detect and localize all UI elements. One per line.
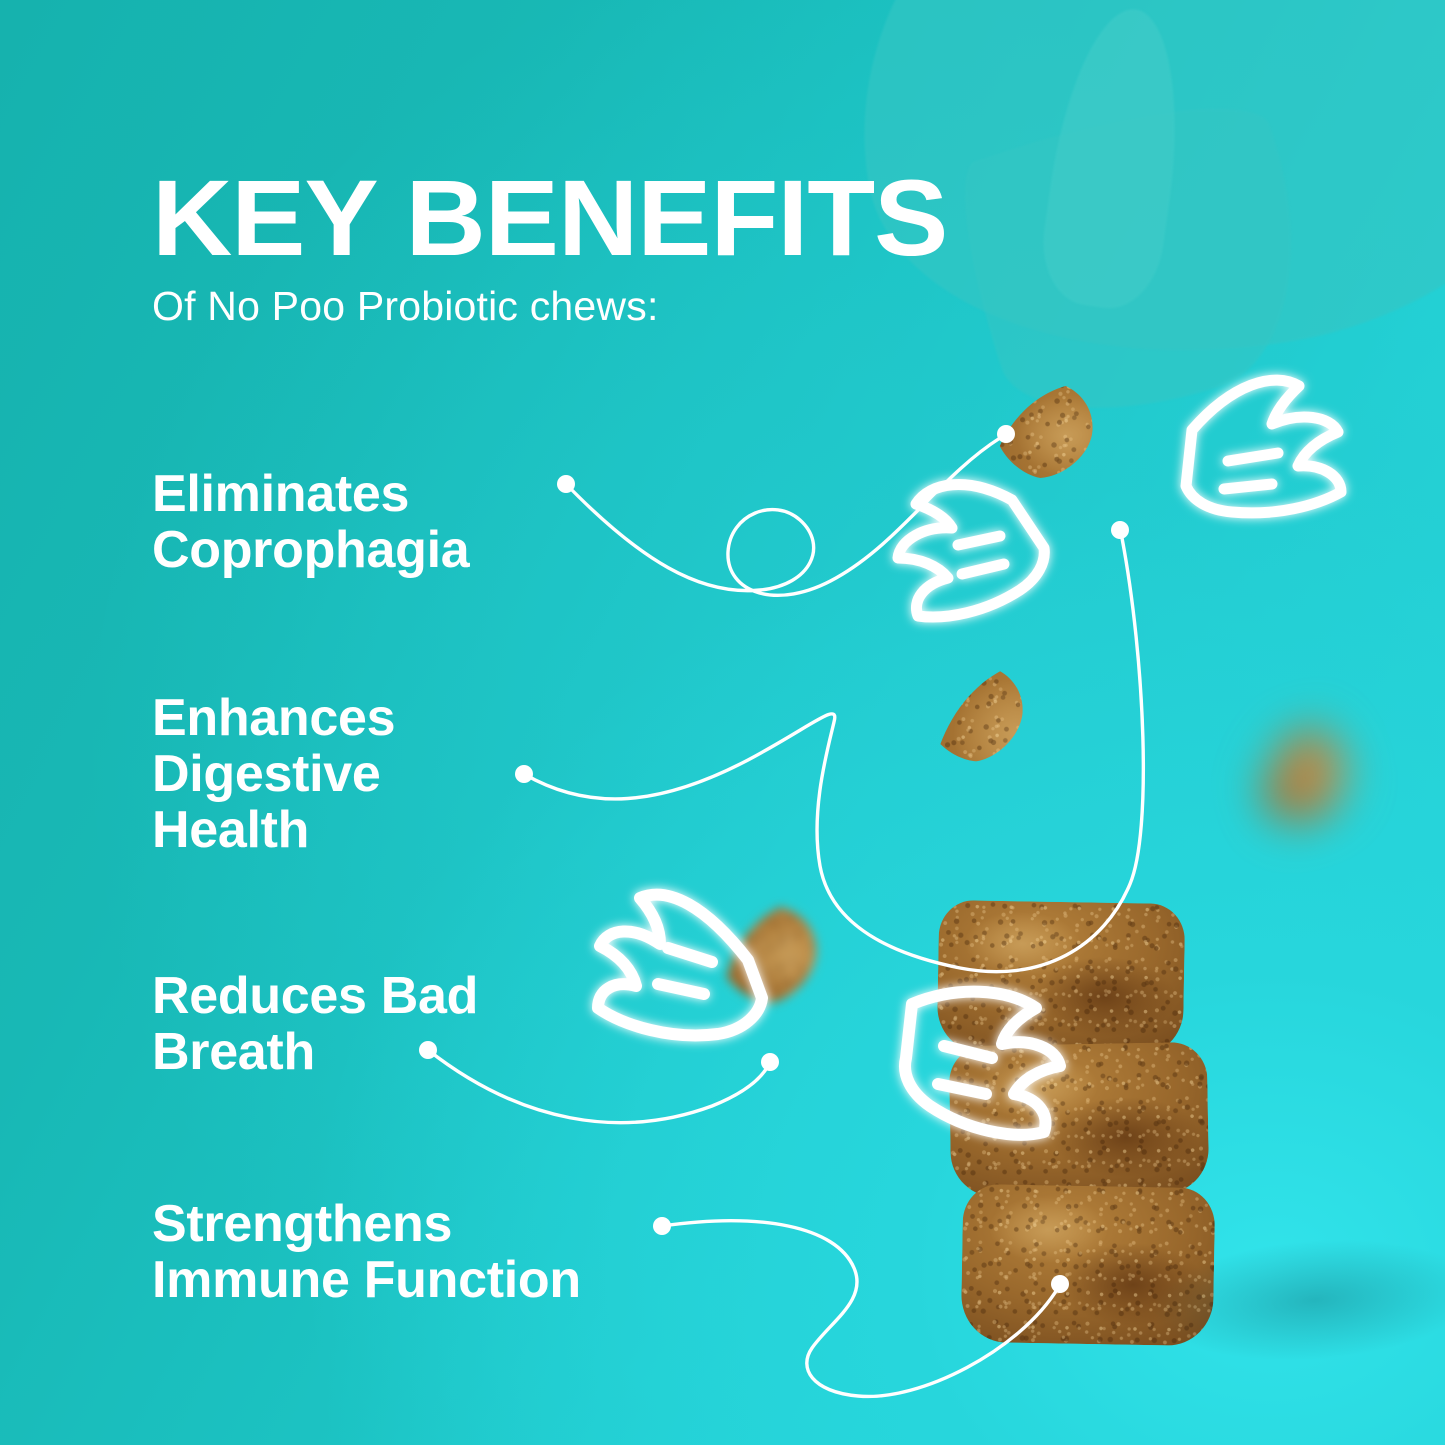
poster-background: KEY BENEFITS Of No Poo Probiotic chews: …	[0, 0, 1445, 1445]
benefit-item-eliminates-coprophagia: Eliminates Coprophagia	[152, 466, 469, 578]
page-subtitle: Of No Poo Probiotic chews:	[152, 286, 659, 327]
benefit-item-reduces-bad-breath: Reduces Bad Breath	[152, 968, 478, 1080]
benefit-item-strengthens-immune: Strengthens Immune Function	[152, 1196, 581, 1308]
copy-block: KEY BENEFITS Of No Poo Probiotic chews: …	[0, 0, 1445, 1445]
benefit-item-enhances-digestive-health: Enhances Digestive Health	[152, 690, 395, 858]
page-title: KEY BENEFITS	[152, 164, 947, 272]
